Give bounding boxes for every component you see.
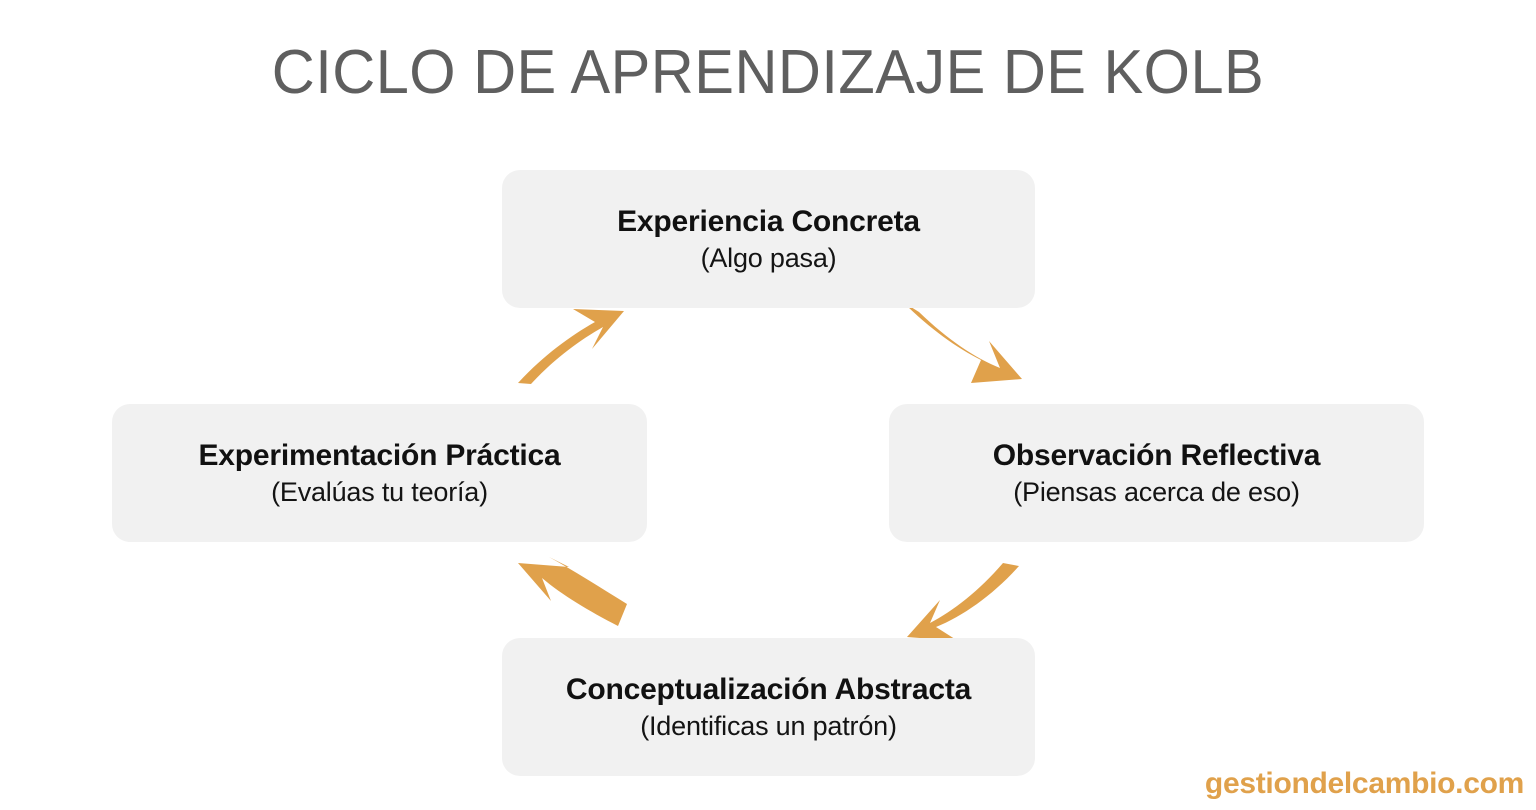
node-conceptualizacion-abstracta[interactable]: Conceptualización Abstracta (Identificas… — [502, 638, 1035, 776]
node-subtitle: (Evalúas tu teoría) — [271, 475, 488, 509]
watermark: gestiondelcambio.com — [1205, 766, 1524, 802]
node-subtitle: (Piensas acerca de eso) — [1013, 475, 1300, 509]
node-heading: Experiencia Concreta — [617, 203, 920, 241]
node-experiencia-concreta[interactable]: Experiencia Concreta (Algo pasa) — [502, 170, 1035, 308]
node-heading: Observación Reflectiva — [993, 437, 1320, 475]
node-subtitle: (Identificas un patrón) — [640, 709, 897, 743]
node-observacion-reflectiva[interactable]: Observación Reflectiva (Piensas acerca d… — [889, 404, 1424, 542]
node-subtitle: (Algo pasa) — [701, 241, 837, 275]
arrow-top-to-right — [903, 302, 1022, 383]
arrow-bottom-to-left — [518, 557, 627, 626]
arrow-right-to-bottom — [907, 563, 1019, 641]
arrow-left-to-top — [518, 309, 624, 384]
diagram-canvas: CICLO DE APRENDIZAJE DE KOLB Experiencia… — [0, 0, 1536, 810]
node-experimentacion-practica[interactable]: Experimentación Práctica (Evalúas tu teo… — [112, 404, 647, 542]
node-heading: Experimentación Práctica — [198, 437, 560, 475]
node-heading: Conceptualización Abstracta — [566, 671, 971, 709]
page-title: CICLO DE APRENDIZAJE DE KOLB — [31, 40, 1506, 106]
